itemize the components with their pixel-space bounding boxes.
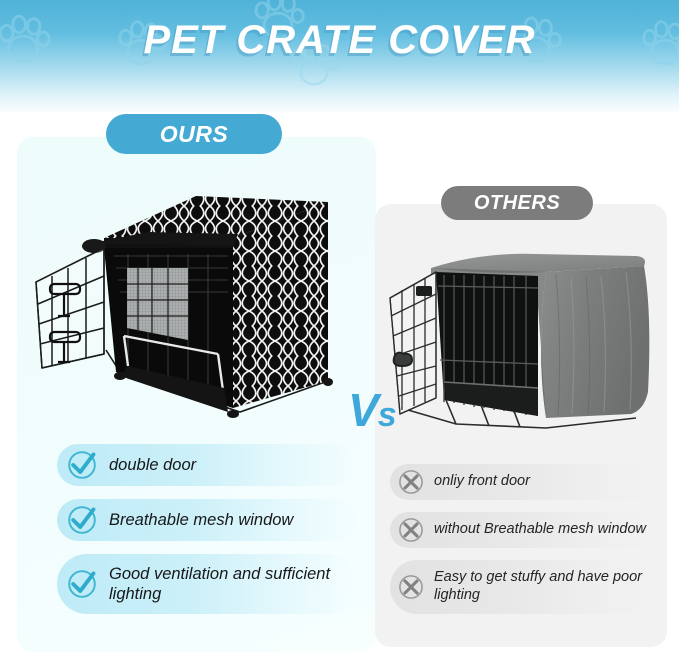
x-circle-icon	[398, 469, 424, 495]
x-circle-icon	[398, 574, 424, 600]
ours-badge: OURS	[106, 114, 282, 154]
others-feature-item-3: Easy to get stuffy and have poor lightin…	[390, 560, 658, 614]
ours-badge-label: OURS	[160, 121, 228, 148]
check-circle-icon	[67, 505, 97, 535]
others-feature-item-2: without Breathable mesh window	[390, 512, 658, 548]
x-circle-icon	[398, 517, 424, 543]
check-circle-icon	[67, 450, 97, 480]
ours-feature-label-3: Good ventilation and sufficient lighting	[109, 564, 357, 604]
others-feature-label-2: without Breathable mesh window	[434, 521, 646, 539]
page-header: PET CRATE COVER	[0, 0, 679, 112]
page-title: PET CRATE COVER	[0, 18, 679, 63]
others-feature-label-3: Easy to get stuffy and have poor lightin…	[434, 569, 658, 604]
ours-feature-item-1: double door	[57, 444, 357, 486]
others-badge: OTHERS	[441, 186, 593, 220]
vs-label: Vs	[348, 387, 396, 433]
others-feature-label-1: onliy front door	[434, 473, 530, 491]
ours-product-image	[28, 176, 354, 422]
others-product-image	[386, 242, 666, 434]
ours-feature-item-3: Good ventilation and sufficient lighting	[57, 554, 357, 614]
check-circle-icon	[67, 569, 97, 599]
ours-feature-label-1: double door	[109, 455, 196, 475]
ours-feature-label-2: Breathable mesh window	[109, 510, 293, 530]
ours-feature-item-2: Breathable mesh window	[57, 499, 357, 541]
others-badge-label: OTHERS	[474, 192, 560, 215]
vs-text: Vs	[348, 384, 396, 436]
others-feature-item-1: onliy front door	[390, 464, 658, 500]
